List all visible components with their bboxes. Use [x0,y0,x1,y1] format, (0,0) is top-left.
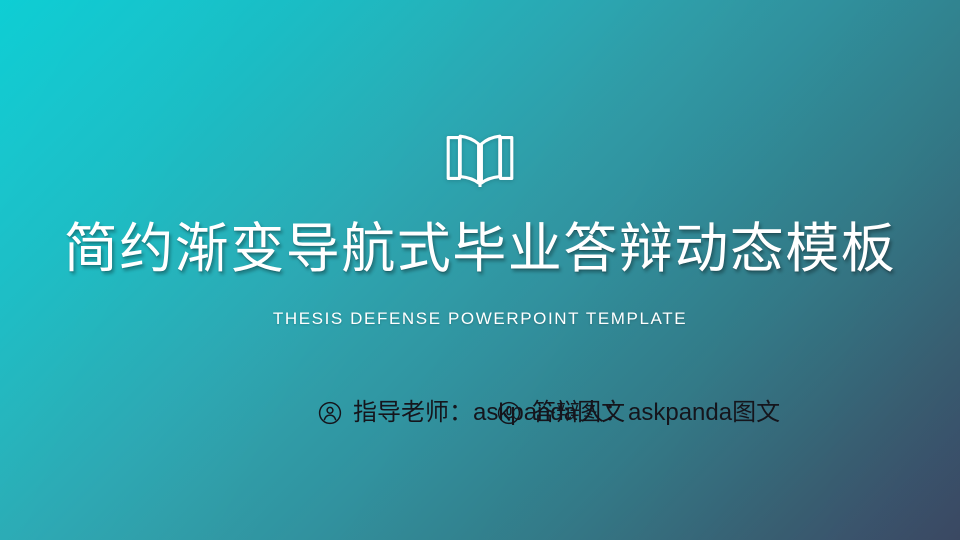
open-book-icon [445,131,515,187]
credits-group: 指导老师：askpanda图文 答辩人：askpanda图文 [0,396,960,440]
slide-content: 简约渐变导航式毕业答辩动态模板 THESIS DEFENSE POWERPOIN… [0,0,960,540]
hero-icon-container [0,131,960,187]
user-circle-icon [318,401,342,425]
credit-line-presenter: 答辩人：askpanda图文 [497,396,780,430]
slide-subtitle: THESIS DEFENSE POWERPOINT TEMPLATE [0,307,960,331]
slide-title: 简约渐变导航式毕业答辩动态模板 [0,216,960,282]
credit-presenter-text: 答辩人：askpanda图文 [532,396,780,430]
presentation-slide: 简约渐变导航式毕业答辩动态模板 THESIS DEFENSE POWERPOIN… [0,0,960,540]
microphone-circle-icon [497,401,521,425]
